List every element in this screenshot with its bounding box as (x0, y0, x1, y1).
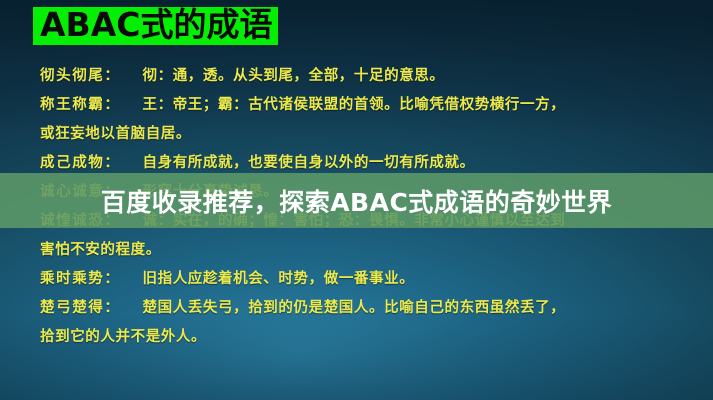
list-item-continuation: 或狂妄地以首脑自居。 (40, 120, 695, 149)
idiom-term: 乘时乘势： (40, 271, 121, 287)
list-item: 楚弓楚得：楚国人丢失弓，拾到的仍是楚国人。比喻自己的东西虽然丢了， (40, 294, 695, 323)
list-item: 彻头彻尾：彻：通，透。从头到尾，全部，十足的意思。 (40, 62, 695, 91)
idiom-definition: 旧指人应趁着机会、时势，做一番事业。 (143, 271, 415, 287)
list-item-continuation: 害怕不安的程度。 (40, 236, 695, 265)
idiom-term: 称王称霸： (40, 97, 121, 113)
list-item: 称王称霸：王：帝王；霸：古代诸侯联盟的首领。比喻凭借权势横行一方， (40, 91, 695, 120)
page-title-text: ABAC式的成语 (40, 5, 272, 44)
idiom-term: 楚弓楚得： (40, 300, 121, 316)
promo-banner: 百度收录推荐，探索ABAC式成语的奇妙世界 (0, 173, 713, 228)
list-item-continuation: 拾到它的人并不是外人。 (40, 323, 695, 352)
idiom-definition: 楚国人丢失弓，拾到的仍是楚国人。比喻自己的东西虽然丢了， (143, 300, 566, 316)
idiom-definition: 自身有所成就，也要使自身以外的一切有所成就。 (143, 155, 475, 171)
screenshot-canvas: ABAC式的成语 彻头彻尾：彻：通，透。从头到尾，全部，十足的意思。 称王称霸：… (0, 0, 713, 400)
list-item: 乘时乘势：旧指人应趁着机会、时势，做一番事业。 (40, 265, 695, 294)
page-title: ABAC式的成语 (33, 7, 278, 45)
idiom-definition: 彻：通，透。从头到尾，全部，十足的意思。 (143, 68, 445, 84)
idiom-term: 彻头彻尾： (40, 68, 121, 84)
idiom-definition: 王：帝王；霸：古代诸侯联盟的首领。比喻凭借权势横行一方， (143, 97, 566, 113)
idiom-term: 成己成物： (40, 155, 121, 171)
promo-banner-text: 百度收录推荐，探索ABAC式成语的奇妙世界 (101, 183, 613, 219)
